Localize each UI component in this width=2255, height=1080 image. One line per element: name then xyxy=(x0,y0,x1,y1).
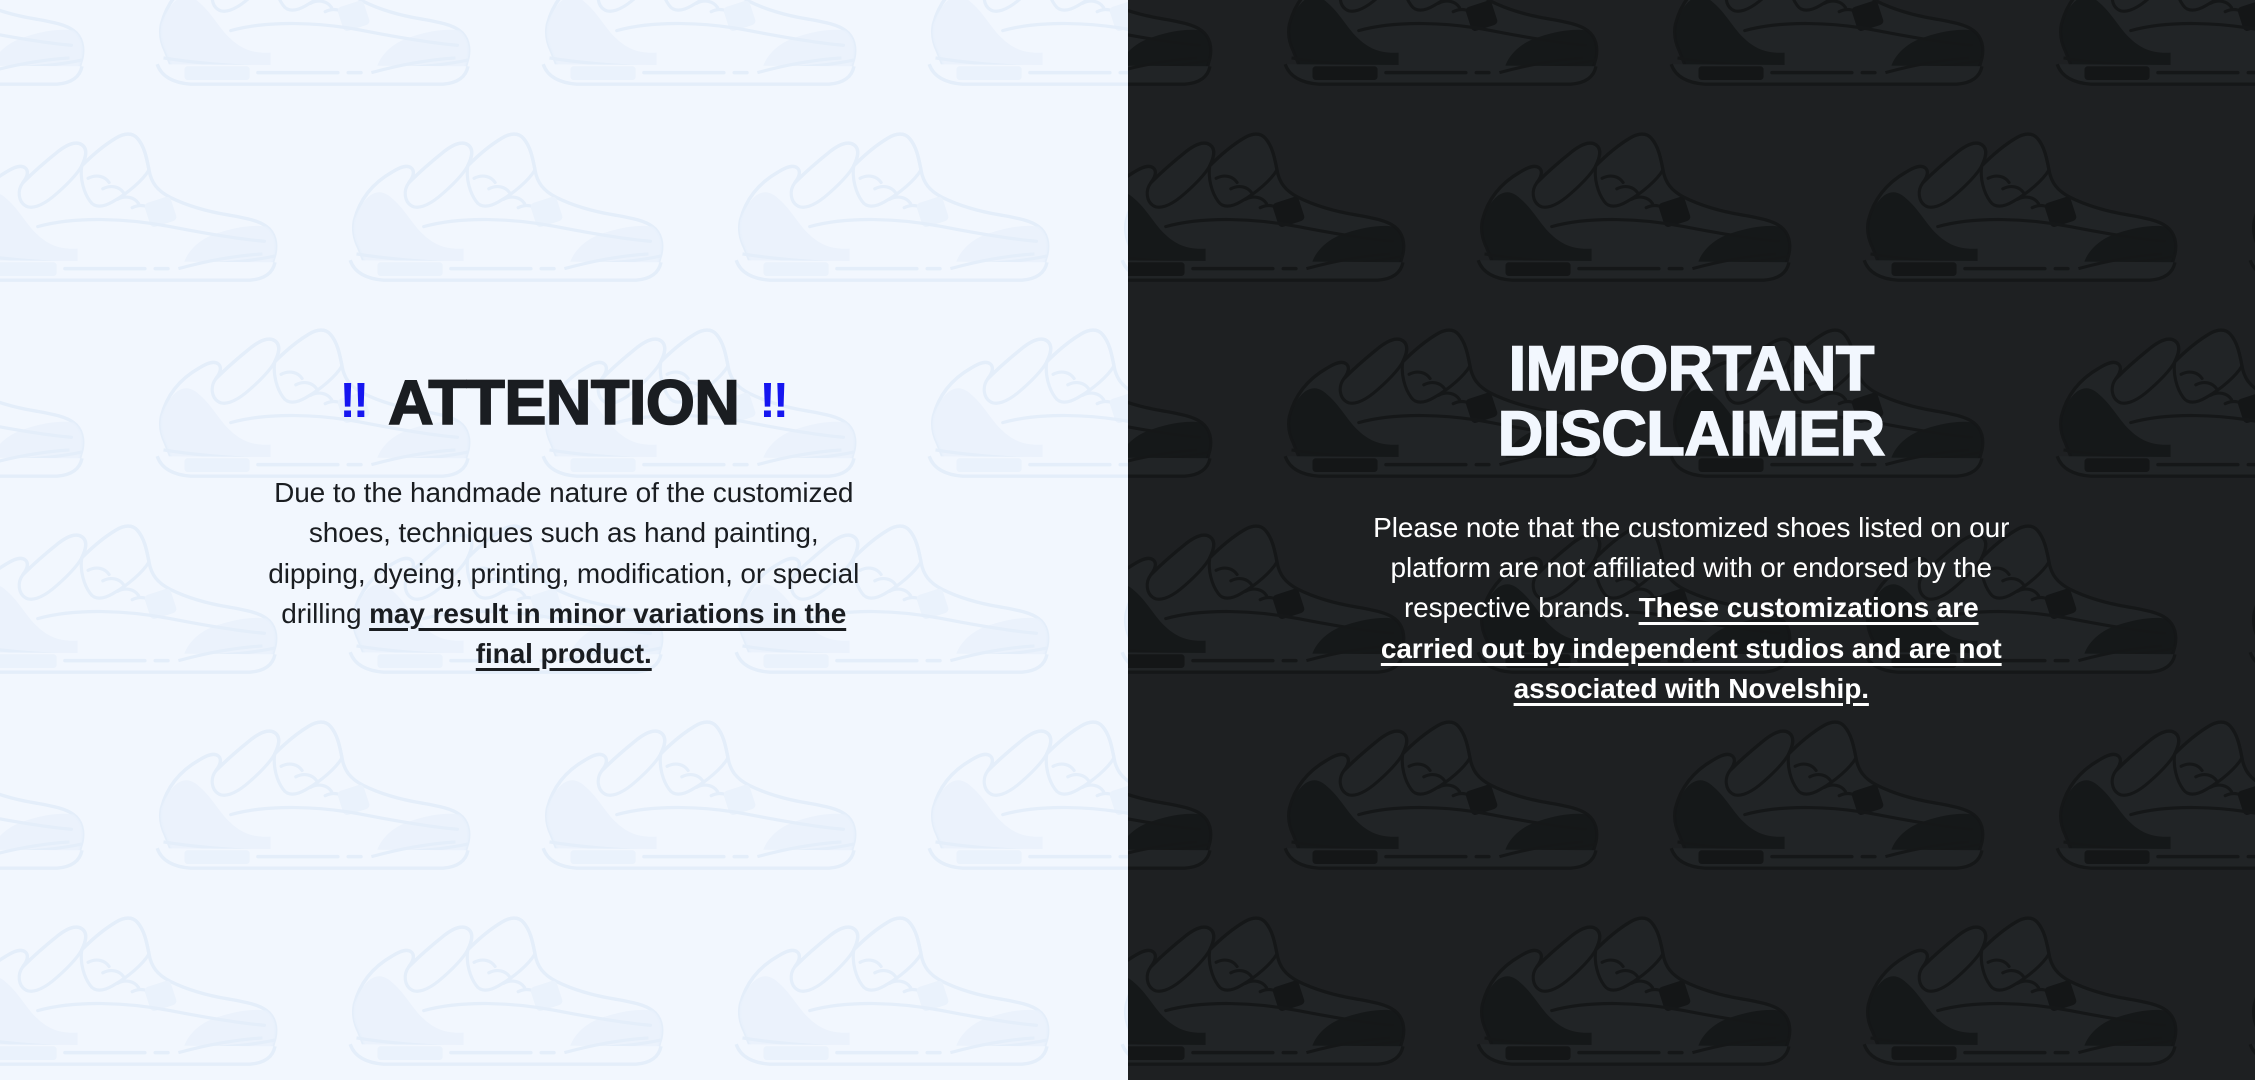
disclaimer-heading-line-1: IMPORTANT xyxy=(1509,334,1874,404)
attention-content: ‼ATTENTION‼ Due to the handmade nature o… xyxy=(0,371,1128,674)
double-exclamation-right-icon: ‼ xyxy=(759,376,788,427)
disclaimer-heading: IMPORTANT DISCLAIMER xyxy=(1168,337,2216,468)
attention-heading-row: ‼ATTENTION‼ xyxy=(40,371,1088,437)
disclaimer-heading-line-2: DISCLAIMER xyxy=(1498,399,1885,469)
double-exclamation-left-icon: ‼ xyxy=(339,376,368,427)
disclaimer-body: Please note that the customized shoes li… xyxy=(1371,508,2011,710)
attention-heading: ‼ATTENTION‼ xyxy=(40,371,1088,437)
attention-body-emphasis: may result in minor variations in the fi… xyxy=(369,598,846,669)
attention-body: Due to the handmade nature of the custom… xyxy=(259,473,869,675)
disclaimer-panel: IMPORTANT DISCLAIMER Please note that th… xyxy=(1128,0,2255,1080)
disclaimer-banner: ‼ATTENTION‼ Due to the handmade nature o… xyxy=(0,0,2255,1080)
attention-panel: ‼ATTENTION‼ Due to the handmade nature o… xyxy=(0,0,1128,1080)
attention-heading-text: ATTENTION xyxy=(388,368,739,438)
disclaimer-content: IMPORTANT DISCLAIMER Please note that th… xyxy=(1128,337,2255,710)
